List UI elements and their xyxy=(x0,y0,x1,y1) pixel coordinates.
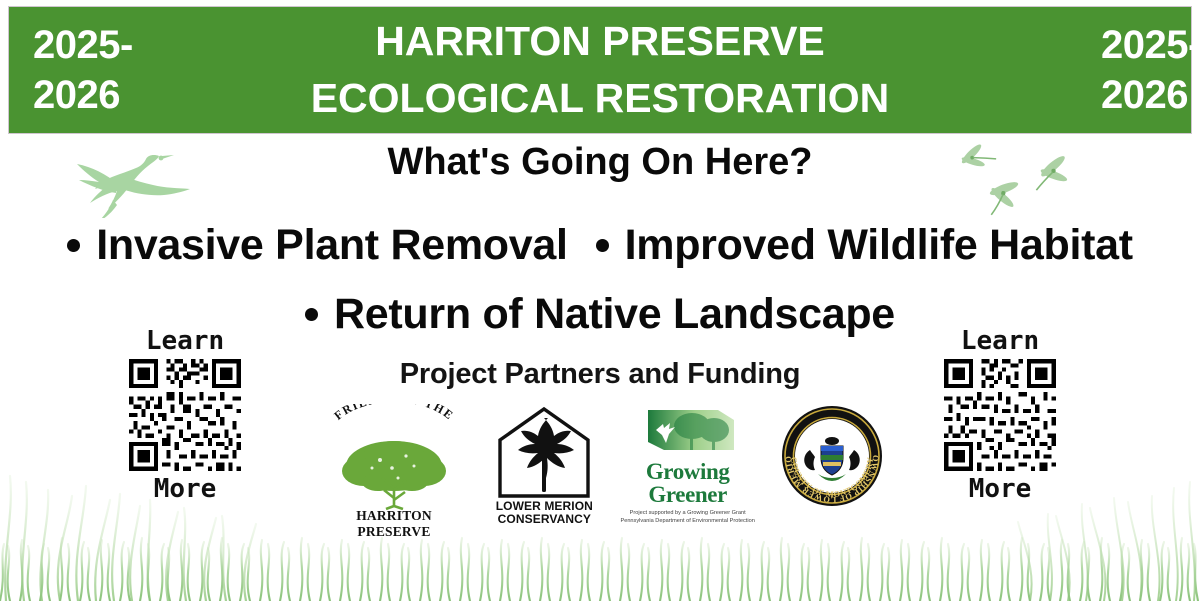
svg-text:FRIENDS OF THE: FRIENDS OF THE xyxy=(331,404,456,423)
qr-block-left[interactable]: Learn xyxy=(110,328,260,502)
page-title: HARRITON PRESERVE ECOLOGICAL RESTORATION xyxy=(179,13,1021,126)
logo-growing-greener: Growing Greener Project supported by a G… xyxy=(619,404,757,525)
bullet-label: Return of Native Landscape xyxy=(334,290,895,339)
year-range-left: 2025- 2026 xyxy=(9,20,179,120)
bullet-improved-wildlife-habitat: Improved Wildlife Habitat xyxy=(596,221,1133,270)
year-right-line1: 2025- xyxy=(1101,20,1177,70)
logo-gg-wordmark: Growing Greener xyxy=(619,460,757,506)
subtitle: What's Going On Here? xyxy=(0,141,1200,184)
partner-logos: FRIENDS OF THE xyxy=(318,404,888,539)
year-range-right: 2025- 2026 xyxy=(1021,20,1191,120)
logo-gg-caption-line1: Project supported by a Growing Greener G… xyxy=(619,509,757,517)
logo-lower-merion-conservancy: LOWER MERION CONSERVANCY xyxy=(489,404,599,526)
bullet-label: Improved Wildlife Habitat xyxy=(625,221,1133,270)
logo-lmc-line2: CONSERVANCY xyxy=(489,513,599,526)
bullet-dot-icon xyxy=(596,239,609,252)
oak-leaf-house-icon xyxy=(492,404,596,502)
qr-label-bottom: More xyxy=(925,476,1075,502)
logo-fhp-name: HARRITON PRESERVE xyxy=(318,508,470,540)
green-tree-icon xyxy=(318,438,470,510)
logo-township-of-lower-merion-seal: TOWNSHIP OF LOWER MERION COUNTY OF MONTG… xyxy=(776,404,888,508)
bullet-dot-icon xyxy=(305,308,318,321)
qr-code-icon[interactable] xyxy=(940,355,1060,475)
bullet-invasive-plant-removal: Invasive Plant Removal xyxy=(67,221,567,270)
title-line-2: ECOLOGICAL RESTORATION xyxy=(179,70,1021,127)
bullet-label: Invasive Plant Removal xyxy=(96,221,567,270)
year-left-line1: 2025- xyxy=(33,20,179,70)
header-band: 2025- 2026 HARRITON PRESERVE ECOLOGICAL … xyxy=(8,6,1192,134)
title-line-1: HARRITON PRESERVE xyxy=(179,13,1021,70)
harriton-preserve-sign: 2025- 2026 HARRITON PRESERVE ECOLOGICAL … xyxy=(0,0,1200,601)
logo-gg-caption-line2: Pennsylvania Department of Environmental… xyxy=(619,517,757,525)
qr-block-right[interactable]: Learn xyxy=(925,328,1075,502)
logo-friends-of-harriton-preserve: FRIENDS OF THE xyxy=(318,404,470,540)
logo-gg-caption: Project supported by a Growing Greener G… xyxy=(619,509,757,525)
bullet-row-1: Invasive Plant Removal Improved Wildlife… xyxy=(0,221,1200,270)
qr-label-bottom: More xyxy=(110,476,260,502)
logo-lmc-name: LOWER MERION CONSERVANCY xyxy=(489,500,599,526)
logo-lmc-line1: LOWER MERION xyxy=(489,500,599,513)
qr-label-top: Learn xyxy=(110,328,260,354)
qr-code-icon[interactable] xyxy=(125,355,245,475)
year-left-line2: 2026 xyxy=(33,70,179,120)
pennsylvania-trees-icon xyxy=(634,404,742,459)
bullet-dot-icon xyxy=(67,239,80,252)
bullet-return-of-native-landscape: Return of Native Landscape xyxy=(305,290,895,339)
year-right-line2: 2026 xyxy=(1101,70,1177,120)
qr-label-top: Learn xyxy=(925,328,1075,354)
township-seal-icon: TOWNSHIP OF LOWER MERION COUNTY OF MONTG… xyxy=(780,404,884,508)
